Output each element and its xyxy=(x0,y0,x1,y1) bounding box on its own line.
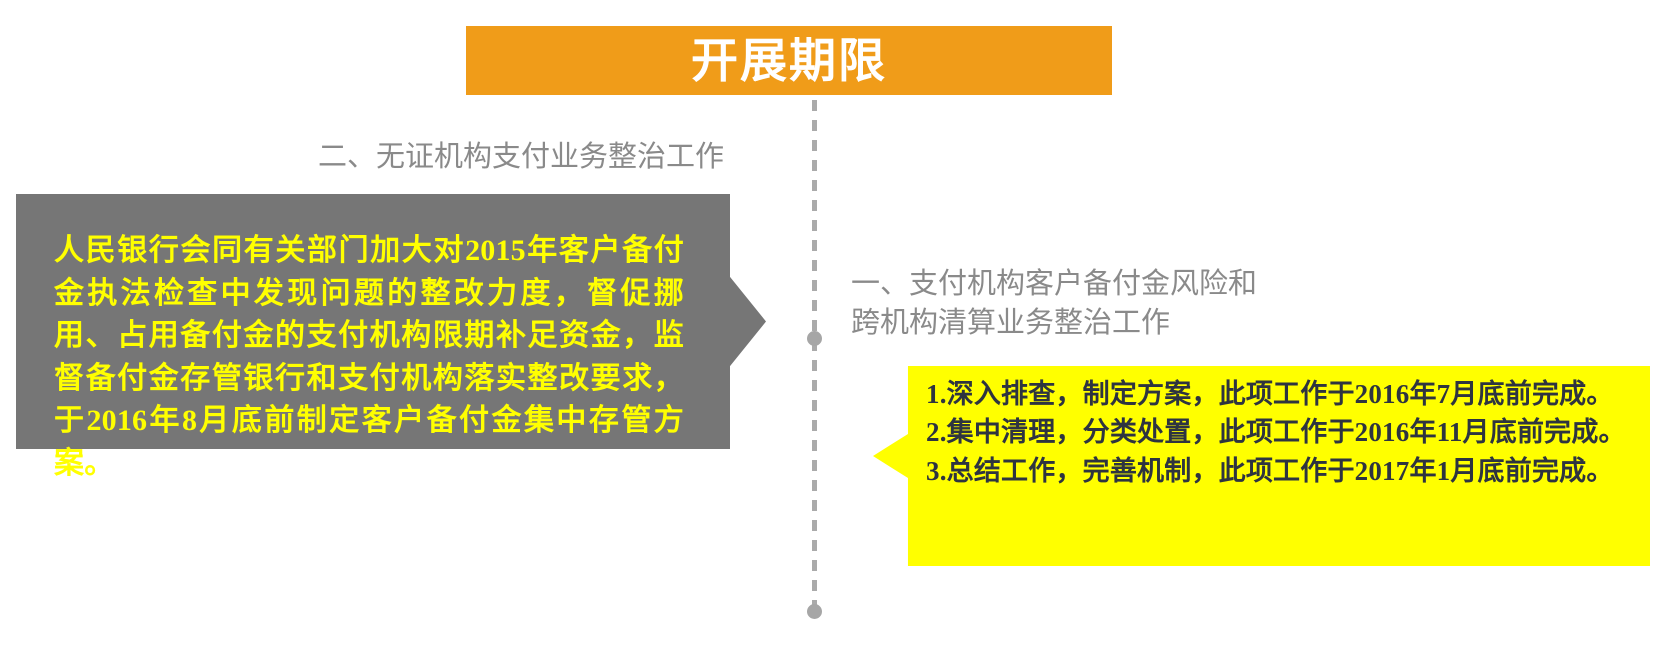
timeline-dashed-line xyxy=(812,100,817,612)
right-yellow-callout: 1.深入排查，制定方案，此项工作于2016年7月底前完成。 2.集中清理，分类处… xyxy=(873,366,1650,566)
left-gray-callout-text: 人民银行会同有关部门加大对2015年客户备付金执法检查中发现问题的整改力度，督促… xyxy=(54,230,684,486)
right-section-heading: 一、支付机构客户备付金风险和 跨机构清算业务整治工作 xyxy=(851,265,1257,342)
right-section-heading-line-1: 一、支付机构客户备付金风险和 xyxy=(851,265,1257,304)
list-item: 1.深入排查，制定方案，此项工作于2016年7月底前完成。 xyxy=(926,375,1636,413)
timeline-dot-lower xyxy=(807,604,822,619)
list-item: 2.集中清理，分类处置，此项工作于2016年11月底前完成。 xyxy=(926,413,1636,451)
list-item: 3.总结工作，完善机制，此项工作于2017年1月底前完成。 xyxy=(926,452,1636,490)
left-section-heading: 二、无证机构支付业务整治工作 xyxy=(318,139,724,175)
page-title: 开展期限 xyxy=(691,37,887,84)
right-yellow-callout-text: 1.深入排查，制定方案，此项工作于2016年7月底前完成。 2.集中清理，分类处… xyxy=(926,375,1636,490)
slide-canvas: 开展期限 二、无证机构支付业务整治工作 人民银行会同有关部门加大对2015年客户… xyxy=(0,0,1667,648)
left-gray-callout: 人民银行会同有关部门加大对2015年客户备付金执法检查中发现问题的整改力度，督促… xyxy=(16,194,766,449)
right-section-heading-line-2: 跨机构清算业务整治工作 xyxy=(851,304,1257,343)
timeline-dot-upper xyxy=(807,331,822,346)
title-bar: 开展期限 xyxy=(466,26,1112,95)
